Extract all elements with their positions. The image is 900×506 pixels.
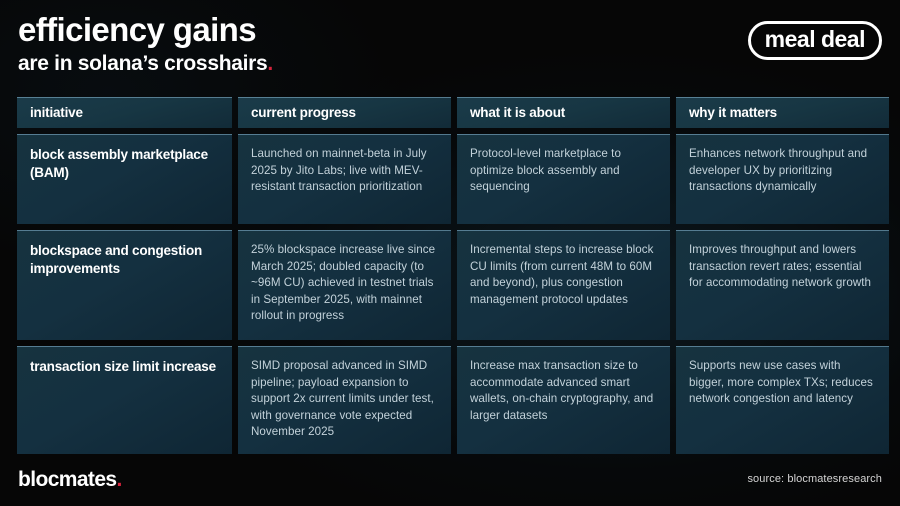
table-cell-current-progress: Launched on mainnet-beta in July 2025 by…: [238, 134, 451, 224]
table-cell-current-progress: 25% blockspace increase live since March…: [238, 230, 451, 340]
table-cell-current-progress: SIMD proposal advanced in SIMD pipeline;…: [238, 346, 451, 454]
blocmates-accent-dot: .: [116, 468, 121, 491]
slide-canvas: efficiency gains are in solana’s crossha…: [0, 0, 900, 506]
cell-text: Protocol-level marketplace to optimize b…: [470, 146, 657, 196]
slide-footer: blocmates. source: blocmatesresearch: [18, 466, 882, 492]
meal-deal-logo: meal deal: [748, 21, 882, 60]
meal-deal-logo-text: meal deal: [765, 28, 865, 51]
cell-text: Incremental steps to increase block CU l…: [470, 242, 657, 308]
title-line-secondary: are in solana’s crosshairs.: [18, 51, 273, 76]
table-cell-initiative: blockspace and congestion improvements: [17, 230, 232, 340]
table-cell-why-it-matters: Enhances network throughput and develope…: [676, 134, 889, 224]
table-cell-what-it-is-about: Increase max transaction size to accommo…: [457, 346, 670, 454]
table-cell-initiative: block assembly marketplace (BAM): [17, 134, 232, 224]
title-line-primary: efficiency gains: [18, 12, 273, 49]
blocmates-logo: blocmates.: [18, 469, 122, 490]
cell-text: Supports new use cases with bigger, more…: [689, 358, 876, 408]
cell-text: Enhances network throughput and develope…: [689, 146, 876, 196]
column-header-current-progress: current progress: [238, 97, 451, 128]
blocmates-logo-text: blocmates: [18, 468, 116, 491]
column-header-initiative: initiative: [17, 97, 232, 128]
column-header-label: what it is about: [470, 106, 565, 120]
cell-text: Increase max transaction size to accommo…: [470, 358, 657, 424]
column-header-why-it-matters: why it matters: [676, 97, 889, 128]
slide-header: efficiency gains are in solana’s crossha…: [18, 8, 882, 86]
column-header-label: current progress: [251, 106, 356, 120]
column-header-label: why it matters: [689, 106, 777, 120]
table-cell-initiative: transaction size limit increase: [17, 346, 232, 454]
cell-text: SIMD proposal advanced in SIMD pipeline;…: [251, 358, 438, 441]
table-row: block assembly marketplace (BAM) Launche…: [17, 134, 883, 224]
cell-text: Improves throughput and lowers transacti…: [689, 242, 876, 292]
cell-text: block assembly marketplace (BAM): [30, 146, 219, 182]
cell-text: transaction size limit increase: [30, 358, 219, 376]
table-cell-what-it-is-about: Incremental steps to increase block CU l…: [457, 230, 670, 340]
page-title: efficiency gains are in solana’s crossha…: [18, 12, 273, 76]
table-cell-why-it-matters: Improves throughput and lowers transacti…: [676, 230, 889, 340]
cell-text: blockspace and congestion improvements: [30, 242, 219, 278]
column-header-label: initiative: [30, 106, 83, 120]
table-cell-what-it-is-about: Protocol-level marketplace to optimize b…: [457, 134, 670, 224]
source-attribution: source: blocmatesresearch: [747, 473, 882, 485]
title-subtext: are in solana’s crosshairs: [18, 52, 267, 75]
table-row: blockspace and congestion improvements 2…: [17, 230, 883, 340]
cell-text: 25% blockspace increase live since March…: [251, 242, 438, 325]
table-row: transaction size limit increase SIMD pro…: [17, 346, 883, 454]
table-header-row: initiative current progress what it is a…: [17, 97, 883, 128]
title-accent-dot: .: [267, 52, 273, 75]
comparison-table: initiative current progress what it is a…: [17, 97, 883, 454]
column-header-what-it-is-about: what it is about: [457, 97, 670, 128]
cell-text: Launched on mainnet-beta in July 2025 by…: [251, 146, 438, 196]
table-cell-why-it-matters: Supports new use cases with bigger, more…: [676, 346, 889, 454]
